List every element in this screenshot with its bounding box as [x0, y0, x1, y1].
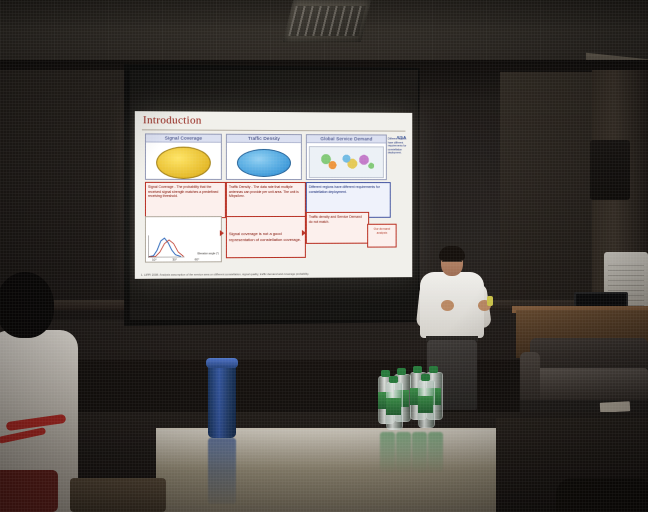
slide-footnote: 1. LIPPI 2008. Analysis assumption of th…	[141, 272, 309, 277]
projected-slide: Introduction ESA Signal Coverage Traffic…	[135, 111, 413, 279]
bottle-reflection	[428, 432, 443, 472]
bottle-label	[418, 396, 433, 413]
bottle-cap	[389, 376, 398, 383]
coverage-ellipse-graphic	[156, 147, 211, 179]
presentation-clicker	[487, 296, 493, 306]
slide-note-side-blue: Different regions have different require…	[387, 137, 411, 179]
slide-note-signal-coverage: Signal Coverage - The probability that t…	[145, 182, 226, 218]
world-map-graphic	[309, 146, 384, 178]
panel-body	[307, 143, 386, 181]
slide-conclusion: Signal coverage is not a good representa…	[226, 216, 306, 258]
slide-title-rule	[142, 129, 406, 131]
slide-side-label: Our demand analysis	[367, 224, 396, 248]
plot-x-tick-1: 30°	[172, 257, 177, 261]
tumbler-reflection	[208, 438, 236, 504]
bottle-cap	[429, 366, 438, 373]
audience-chair	[0, 470, 58, 512]
plot-x-tick-0: 10°	[152, 258, 157, 262]
panel-body	[227, 143, 301, 183]
slide-title: Introduction	[143, 114, 202, 126]
foreground-shadow	[556, 478, 648, 512]
bottle-cap	[413, 366, 422, 373]
slide-panel-signal-coverage: Signal Coverage	[145, 133, 222, 180]
presenter-left-hand	[441, 300, 454, 311]
panel-body	[146, 142, 221, 182]
bottle-cap	[421, 374, 430, 381]
bottle-reflection	[380, 432, 395, 472]
sofa-backrest	[530, 338, 648, 372]
panel-heading: Traffic Density	[227, 135, 301, 143]
air-vent-slats	[288, 6, 365, 36]
arrow-icon	[220, 230, 224, 236]
arrow-icon	[302, 230, 306, 236]
panel-heading: Signal Coverage	[146, 134, 221, 142]
slide-note-mismatch: Traffic density and Service Demand do no…	[306, 212, 369, 244]
plot-x-tick-2: 60°	[195, 257, 200, 261]
plot-x-axis-label: Elevation angle (°)	[197, 252, 218, 255]
glasses-icon	[442, 261, 462, 267]
slide-panel-global-service-demand: Global Service Demand	[306, 134, 387, 180]
wooden-chair-back	[70, 478, 166, 512]
bottle-reflection	[396, 432, 411, 472]
density-ellipse-graphic	[237, 149, 291, 177]
bottle-label	[386, 398, 401, 415]
table-reflection-sheen	[156, 430, 496, 470]
presenter-hair	[439, 246, 465, 261]
bottle-cap	[397, 368, 406, 375]
tumbler-lid	[206, 358, 238, 368]
audience-member-head	[0, 272, 54, 338]
slide-panel-traffic-density: Traffic Density	[226, 134, 302, 180]
wall-speaker	[590, 140, 630, 200]
presentation-room-photo: Introduction ESA Signal Coverage Traffic…	[0, 0, 648, 512]
cdf-curve-graphic	[148, 235, 185, 257]
bottle-reflection	[412, 432, 427, 472]
slide-cdf-plot: 10° 30° 60° Elevation angle (°)	[145, 216, 222, 263]
sofa-seat	[526, 368, 648, 402]
slide-note-traffic-density: Traffic Density - The data rate that mul…	[226, 182, 306, 218]
blue-tumbler	[208, 362, 236, 438]
